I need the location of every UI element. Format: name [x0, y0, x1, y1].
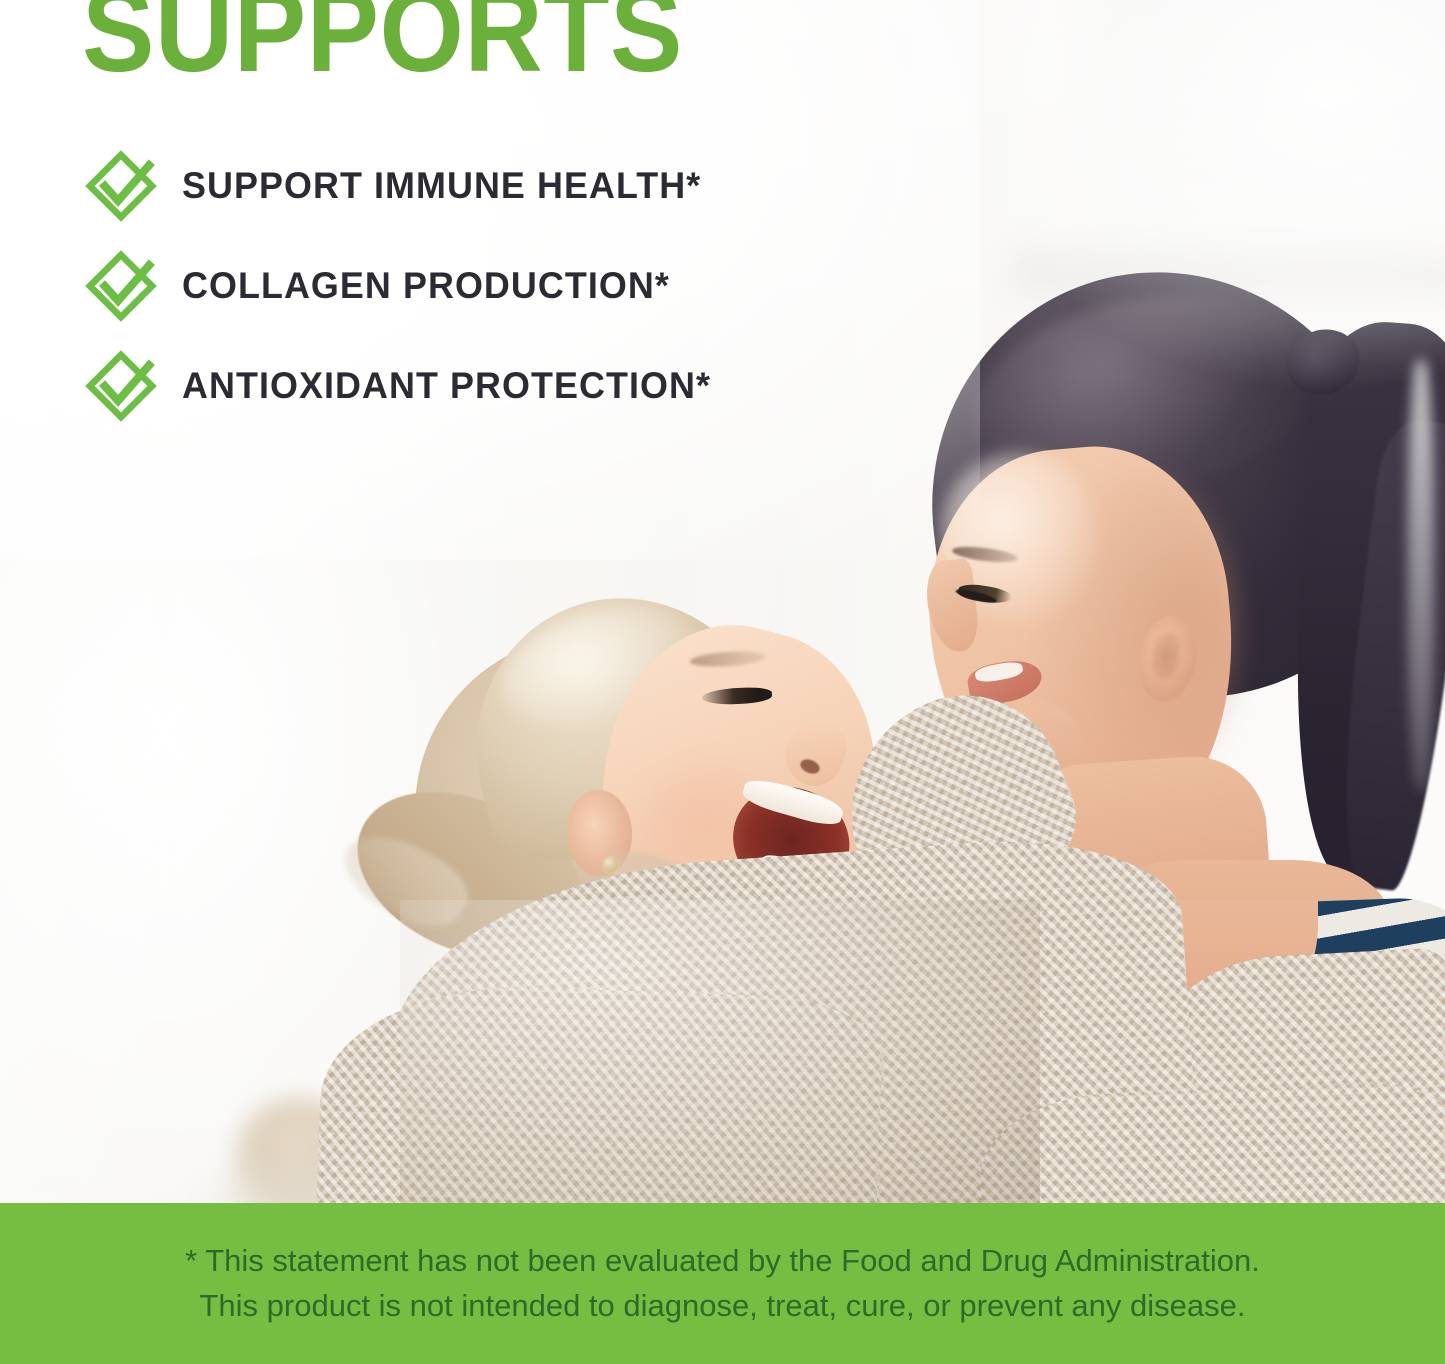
check-diamond-icon	[84, 249, 158, 323]
page-title: SUPPORTS	[82, 0, 683, 90]
disclaimer-footer: * This statement has not been evaluated …	[0, 1203, 1445, 1364]
background-window-frame	[1090, 0, 1445, 290]
list-item: ANTIOXIDANT PROTECTION*	[84, 336, 984, 436]
check-diamond-icon	[84, 149, 158, 223]
benefit-label: ANTIOXIDANT PROTECTION*	[182, 365, 711, 407]
banner-root: SUPPORTS SUPPORT IMMUNE HEALTH*	[0, 0, 1445, 1364]
benefit-label: SUPPORT IMMUNE HEALTH*	[182, 165, 701, 207]
list-item: COLLAGEN PRODUCTION*	[84, 236, 984, 336]
disclaimer-line-1: * This statement has not been evaluated …	[185, 1239, 1260, 1284]
disclaimer-line-2: This product is not intended to diagnose…	[199, 1284, 1245, 1329]
benefit-label: COLLAGEN PRODUCTION*	[182, 265, 670, 307]
check-diamond-icon	[84, 349, 158, 423]
mother-hair-rim-light	[1408, 360, 1434, 790]
benefits-list: SUPPORT IMMUNE HEALTH* COLLAGEN PRODUCTI…	[84, 136, 984, 436]
knit-blanket-drape	[316, 980, 884, 1203]
list-item: SUPPORT IMMUNE HEALTH*	[84, 136, 984, 236]
